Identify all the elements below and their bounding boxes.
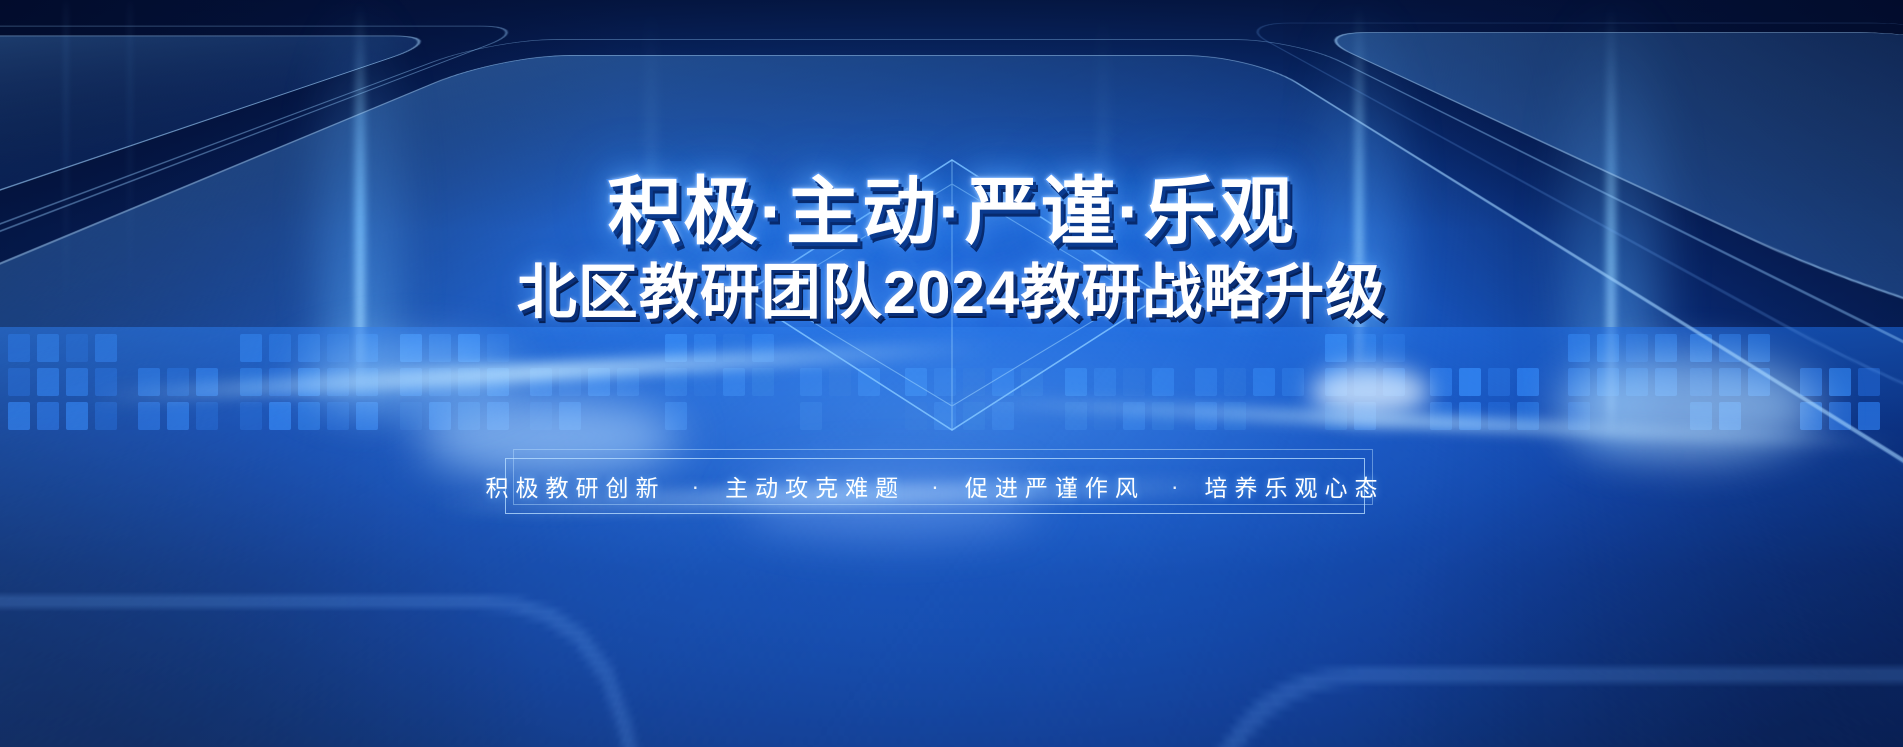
subtitle-item-1: 积极教研创新 (486, 469, 666, 503)
subtitle-separator-2: · (931, 473, 939, 500)
subtitle-frame: 积极教研创新 · 主动攻克难题 · 促进严谨作风 · 培养乐观心态 (505, 458, 1365, 514)
title-block: 积极·主动·严谨·乐观 北区教研团队2024教研战略升级 (0, 175, 1903, 323)
subtitle-separator-3: · (1171, 473, 1179, 500)
subtitle-item-3: 促进严谨作风 (965, 469, 1145, 503)
subtitle-text-row: 积极教研创新 · 主动攻克难题 · 促进严谨作风 · 培养乐观心态 (505, 458, 1365, 514)
subtitle-item-4: 培养乐观心态 (1205, 469, 1385, 503)
page-subtitle: 北区教研团队2024教研战略升级 (517, 263, 1386, 323)
subtitle-item-2: 主动攻克难题 (725, 469, 905, 503)
subtitle-separator-1: · (692, 473, 700, 500)
banner-root: 积极·主动·严谨·乐观 北区教研团队2024教研战略升级 积极教研创新 · 主动… (0, 0, 1903, 747)
page-title: 积极·主动·严谨·乐观 (608, 175, 1296, 249)
